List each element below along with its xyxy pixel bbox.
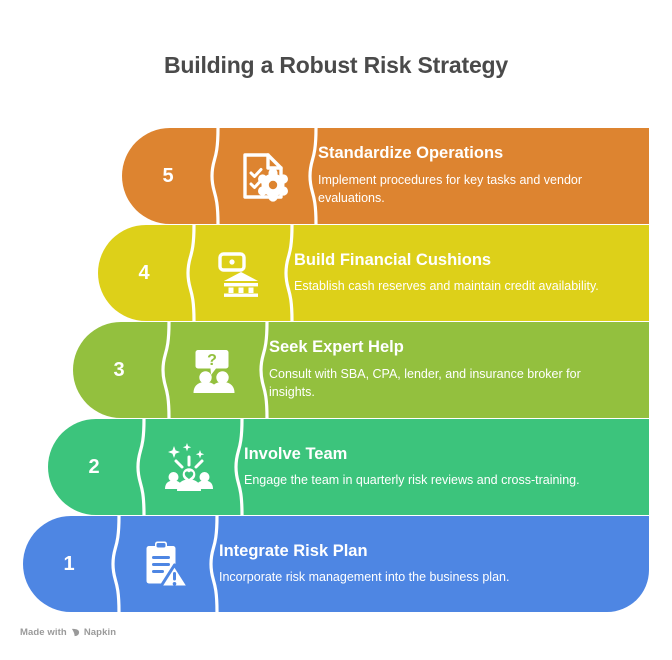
step-3-number: 3 bbox=[73, 322, 165, 418]
step-1-description: Incorporate risk management into the bus… bbox=[219, 568, 619, 586]
step-5-description: Implement procedures for key tasks and v… bbox=[318, 171, 638, 207]
step-3-text: Seek Expert Help Consult with SBA, CPA, … bbox=[269, 322, 609, 418]
step-4-number: 4 bbox=[98, 225, 190, 321]
step-3-description: Consult with SBA, CPA, lender, and insur… bbox=[269, 365, 609, 401]
step-5-heading: Standardize Operations bbox=[318, 144, 638, 164]
step-4-description: Establish cash reserves and maintain cre… bbox=[294, 277, 624, 295]
document-checklist-gear-icon bbox=[237, 150, 289, 202]
step-row-1[interactable]: 1 Integrate Risk Plan Incorporate risk m… bbox=[23, 516, 649, 612]
risk-strategy-pyramid: 5 bbox=[0, 128, 672, 613]
team-sparkle-icon bbox=[163, 441, 215, 493]
step-2-number: 2 bbox=[48, 419, 140, 515]
footer-watermark[interactable]: Made with Napkin bbox=[20, 627, 116, 638]
people-question-bubble-icon: ? bbox=[188, 344, 240, 396]
step-1-text: Integrate Risk Plan Incorporate risk man… bbox=[219, 516, 619, 612]
svg-text:?: ? bbox=[207, 352, 217, 369]
step-5-icon bbox=[214, 128, 312, 224]
step-3-heading: Seek Expert Help bbox=[269, 338, 609, 358]
step-2-icon bbox=[140, 419, 238, 515]
step-1-icon bbox=[115, 516, 213, 612]
step-row-2[interactable]: 2 Involve Team bbox=[48, 419, 649, 515]
step-5-text: Standardize Operations Implement procedu… bbox=[318, 128, 638, 224]
step-3-icon: ? bbox=[165, 322, 263, 418]
clipboard-warning-icon bbox=[138, 538, 190, 590]
step-4-heading: Build Financial Cushions bbox=[294, 251, 624, 271]
page-title: Building a Robust Risk Strategy bbox=[0, 52, 672, 79]
step-row-5[interactable]: 5 bbox=[122, 128, 649, 224]
step-2-text: Involve Team Engage the team in quarterl… bbox=[244, 419, 604, 515]
step-5-number: 5 bbox=[122, 128, 214, 224]
made-with-label: Made with bbox=[20, 627, 67, 638]
step-4-text: Build Financial Cushions Establish cash … bbox=[294, 225, 624, 321]
napkin-brand-label: Napkin bbox=[84, 627, 116, 638]
step-row-3[interactable]: 3 ? Seek Expert Help Consult with SBA, C… bbox=[73, 322, 649, 418]
step-1-heading: Integrate Risk Plan bbox=[219, 542, 619, 562]
step-2-heading: Involve Team bbox=[244, 445, 604, 465]
step-row-4[interactable]: 4 Build Financial Cushions Establish cas… bbox=[98, 225, 649, 321]
step-2-description: Engage the team in quarterly risk review… bbox=[244, 471, 604, 489]
banknote-bank-icon bbox=[213, 247, 265, 299]
napkin-leaf-logo-icon bbox=[71, 628, 80, 637]
step-4-icon bbox=[190, 225, 288, 321]
step-1-number: 1 bbox=[23, 516, 115, 612]
